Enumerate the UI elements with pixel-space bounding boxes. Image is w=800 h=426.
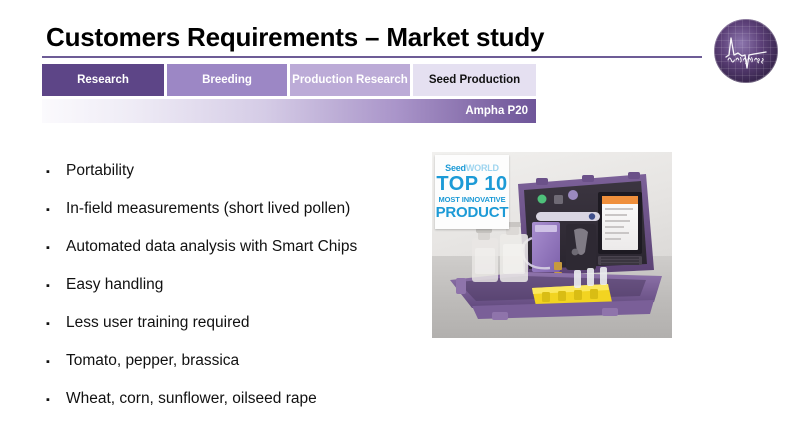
list-item: ▪ Portability: [46, 160, 426, 198]
badge-rank: TOP 10: [436, 174, 507, 194]
ampha-p20-product-photo: SeedWORLD TOP 10 MOST INNOVATIVE PRODUCT: [432, 152, 672, 338]
list-item-label: Tomato, pepper, brassica: [66, 350, 239, 372]
square-bullet-icon: ▪: [46, 312, 66, 335]
product-name-label: Ampha P20: [465, 105, 536, 117]
badge-product-label: PRODUCT: [436, 205, 509, 220]
tab-research[interactable]: Research: [42, 64, 164, 96]
list-item: ▪ Easy handling: [46, 274, 426, 312]
list-item-label: Easy handling: [66, 274, 163, 296]
slide-canvas: Customers Requirements – Market study Re…: [0, 0, 800, 400]
badge-brand: SeedWORLD: [445, 164, 499, 173]
product-range-bar: Ampha P20: [42, 99, 536, 123]
requirements-list: ▪ Portability ▪ In-field measurements (s…: [46, 160, 426, 426]
tab-production-research[interactable]: Production Research: [290, 64, 410, 96]
amphasys-logo: [714, 19, 778, 83]
segment-tabs: Research Breeding Production Research Se…: [42, 64, 536, 96]
list-item: ▪ Automated data analysis with Smart Chi…: [46, 236, 426, 274]
badge-subtitle: MOST INNOVATIVE: [439, 196, 506, 204]
list-item-label: In-field measurements (short lived polle…: [66, 198, 350, 220]
list-item: ▪ Wheat, corn, sunflower, oilseed rape: [46, 388, 426, 426]
square-bullet-icon: ▪: [46, 350, 66, 373]
list-item: ▪ Less user training required: [46, 312, 426, 350]
list-item: ▪ Tomato, pepper, brassica: [46, 350, 426, 388]
square-bullet-icon: ▪: [46, 236, 66, 259]
badge-brand-seed: Seed: [445, 163, 466, 173]
tab-breeding[interactable]: Breeding: [167, 64, 287, 96]
page-title: Customers Requirements – Market study: [46, 22, 544, 53]
list-item: ▪ In-field measurements (short lived pol…: [46, 198, 426, 236]
list-item-label: Portability: [66, 160, 134, 182]
badge-brand-world: WORLD: [466, 163, 499, 173]
square-bullet-icon: ▪: [46, 274, 66, 297]
list-item-label: Wheat, corn, sunflower, oilseed rape: [66, 388, 317, 410]
logo-waveform-icon: [714, 19, 778, 83]
seed-world-award-badge: SeedWORLD TOP 10 MOST INNOVATIVE PRODUCT: [435, 155, 509, 229]
square-bullet-icon: ▪: [46, 160, 66, 183]
list-item-label: Automated data analysis with Smart Chips: [66, 236, 357, 258]
list-item-label: Less user training required: [66, 312, 250, 334]
title-divider: [42, 56, 702, 58]
tab-seed-production[interactable]: Seed Production: [413, 64, 536, 96]
square-bullet-icon: ▪: [46, 198, 66, 221]
